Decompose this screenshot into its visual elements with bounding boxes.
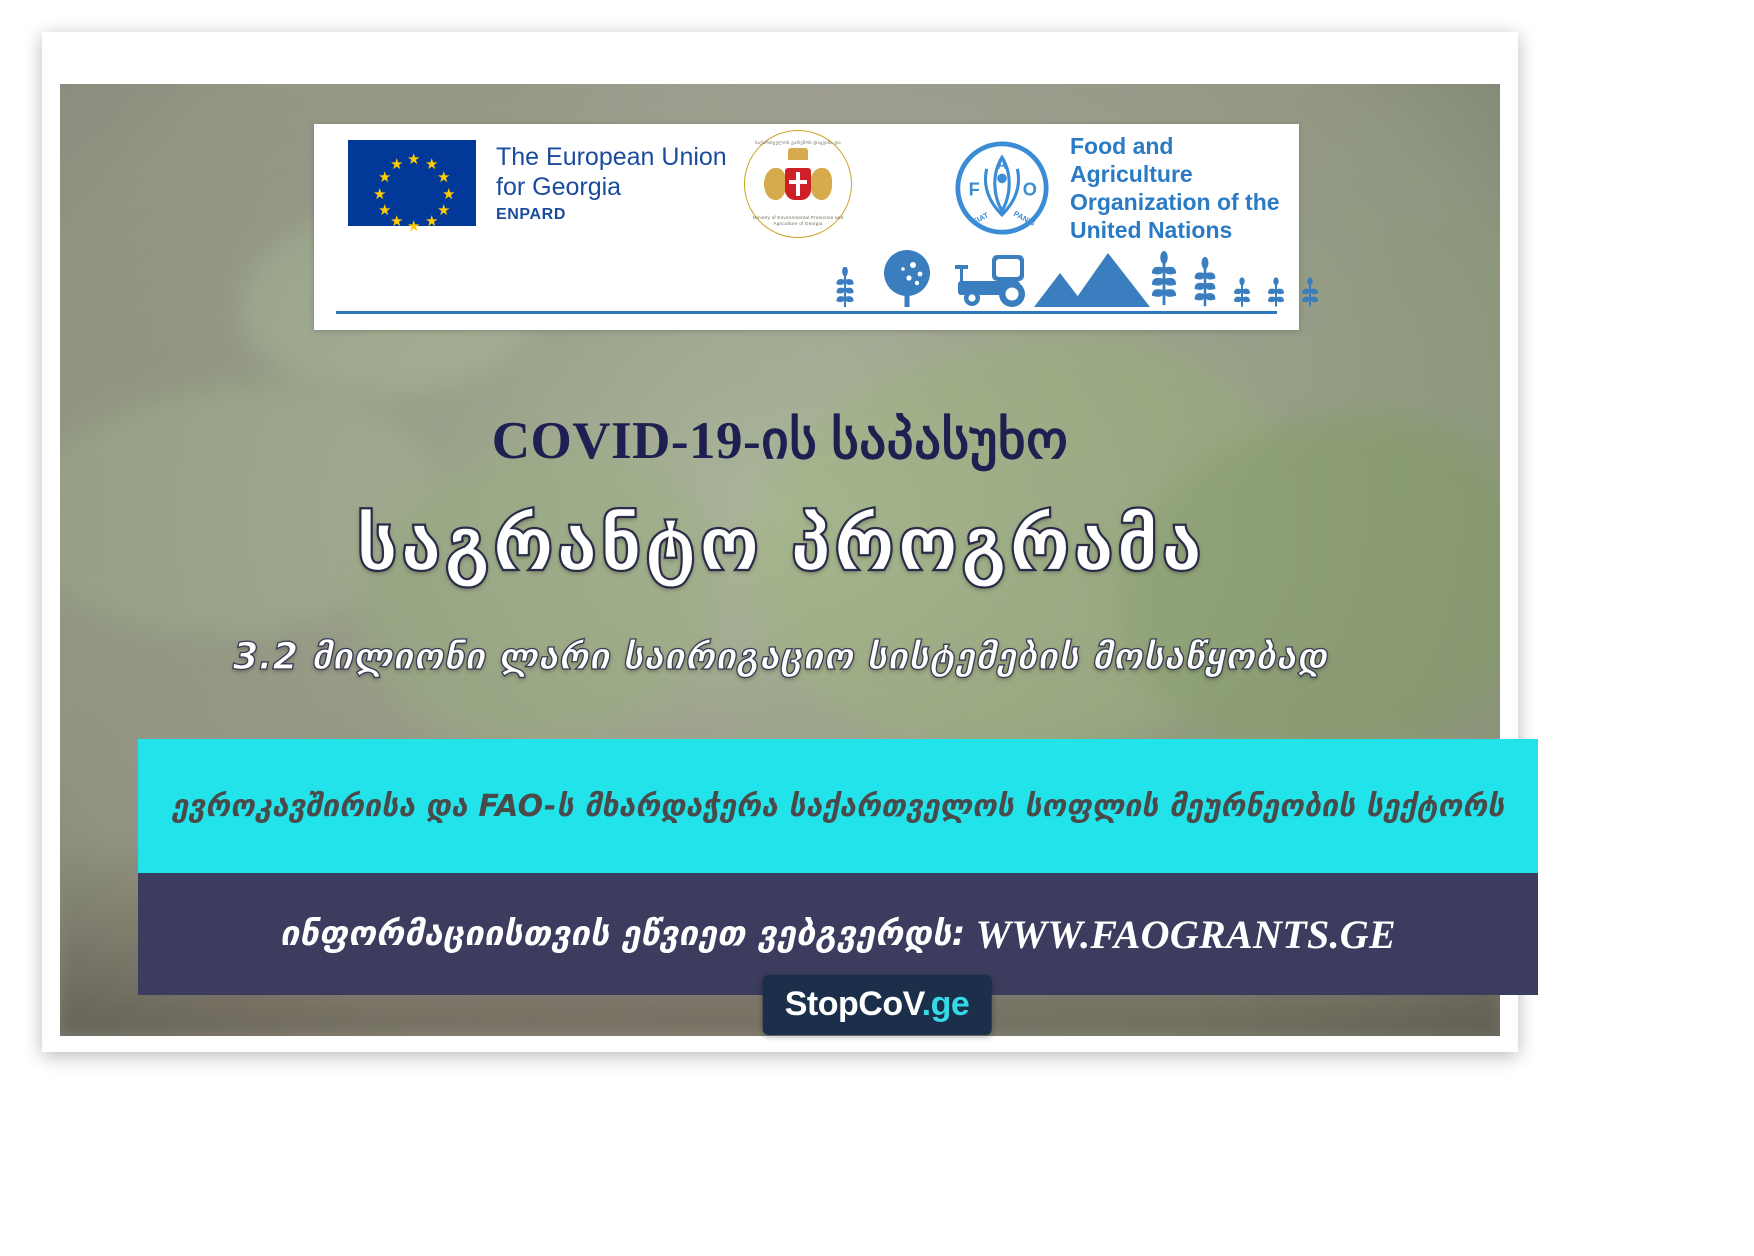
wheat-icon-1: [834, 267, 856, 311]
badge-stop-text: Stop: [785, 985, 859, 1023]
tree-icon: [879, 249, 935, 311]
poster-root: ★ ★ ★ ★ ★ ★ ★ ★ ★ ★ ★ ★ The Europe: [0, 0, 1754, 1256]
page-title: საგრანტო პროგრამა: [42, 500, 1518, 588]
wheat-icon-2: [1150, 251, 1178, 311]
seal-shield-icon: [785, 168, 811, 200]
tractor-icon: [954, 251, 1034, 311]
website-banner-text: ინფორმაციისთვის ეწვიეთ ვებგვერდს:: [280, 914, 965, 954]
slide-frame: ★ ★ ★ ★ ★ ★ ★ ★ ★ ★ ★ ★ The Europe: [42, 32, 1518, 1052]
wheat-icon-4: [1232, 277, 1252, 311]
eu-logo-text: The European Union for Georgia ENPARD: [496, 142, 727, 224]
fao-line-3: United Nations: [1070, 216, 1299, 244]
eu-line-2: for Georgia: [496, 172, 727, 202]
icon-strip-divider: [336, 311, 1277, 314]
svg-text:O: O: [1023, 179, 1037, 200]
enpard-label: ENPARD: [496, 206, 727, 224]
logo-header-card: ★ ★ ★ ★ ★ ★ ★ ★ ★ ★ ★ ★ The Europe: [314, 124, 1299, 330]
logo-row: ★ ★ ★ ★ ★ ★ ★ ★ ★ ★ ★ ★ The Europe: [314, 124, 1299, 242]
wheat-icon-3: [1192, 257, 1218, 311]
fao-emblem-icon: A F O FIAT PANIS: [954, 140, 1050, 236]
seal-text-bottom: Ministry of Environmental Protection and…: [744, 215, 852, 227]
badge-cov-text: CoV: [858, 985, 921, 1023]
svg-text:FIAT: FIAT: [971, 210, 990, 226]
fao-logo: A F O FIAT PANIS Food and Agriculture Or…: [954, 132, 1299, 244]
seal-crown-icon: [788, 148, 808, 160]
website-url-link[interactable]: WWW.FAOGRANTS.GE: [975, 911, 1395, 958]
badge-ge-text: .ge: [922, 985, 970, 1023]
support-banner-text: ევროკავშირისა და FAO-ს მხარდაჭერა საქართ…: [172, 789, 1505, 824]
stopcov-badge[interactable]: StopCoV.ge: [763, 975, 992, 1035]
mountain-icon: [1034, 251, 1154, 311]
svg-text:A: A: [997, 157, 1008, 173]
fao-line-1: Food and Agriculture: [1070, 132, 1299, 188]
fao-logo-text: Food and Agriculture Organization of the…: [1070, 132, 1299, 244]
seal-lion-left-icon: [764, 168, 786, 200]
seal-text-top: საქართველოს გარემოს დაცვისა და: [744, 140, 852, 146]
eu-line-1: The European Union: [496, 142, 727, 172]
fao-line-2: Organization of the: [1070, 188, 1299, 216]
wheat-icon-5: [1266, 277, 1286, 311]
grant-amount-subtitle: 3.2 მილიონი ლარი საირიგაციო სისტემების მ…: [42, 635, 1518, 678]
svg-text:F: F: [969, 179, 980, 200]
georgia-ministry-seal-icon: საქართველოს გარემოს დაცვისა და Ministry …: [744, 130, 852, 238]
support-banner-cyan: ევროკავშირისა და FAO-ს მხარდაჭერა საქართ…: [138, 739, 1538, 873]
seal-lion-right-icon: [810, 168, 832, 200]
covid-response-title: COVID-19-ის საპასუხო: [42, 410, 1518, 471]
wheat-icon-6: [1300, 277, 1320, 311]
agriculture-icon-strip: [314, 242, 1299, 330]
eu-logo: ★ ★ ★ ★ ★ ★ ★ ★ ★ ★ ★ ★ The Europe: [348, 140, 727, 226]
eu-flag-icon: ★ ★ ★ ★ ★ ★ ★ ★ ★ ★ ★ ★: [348, 140, 476, 226]
